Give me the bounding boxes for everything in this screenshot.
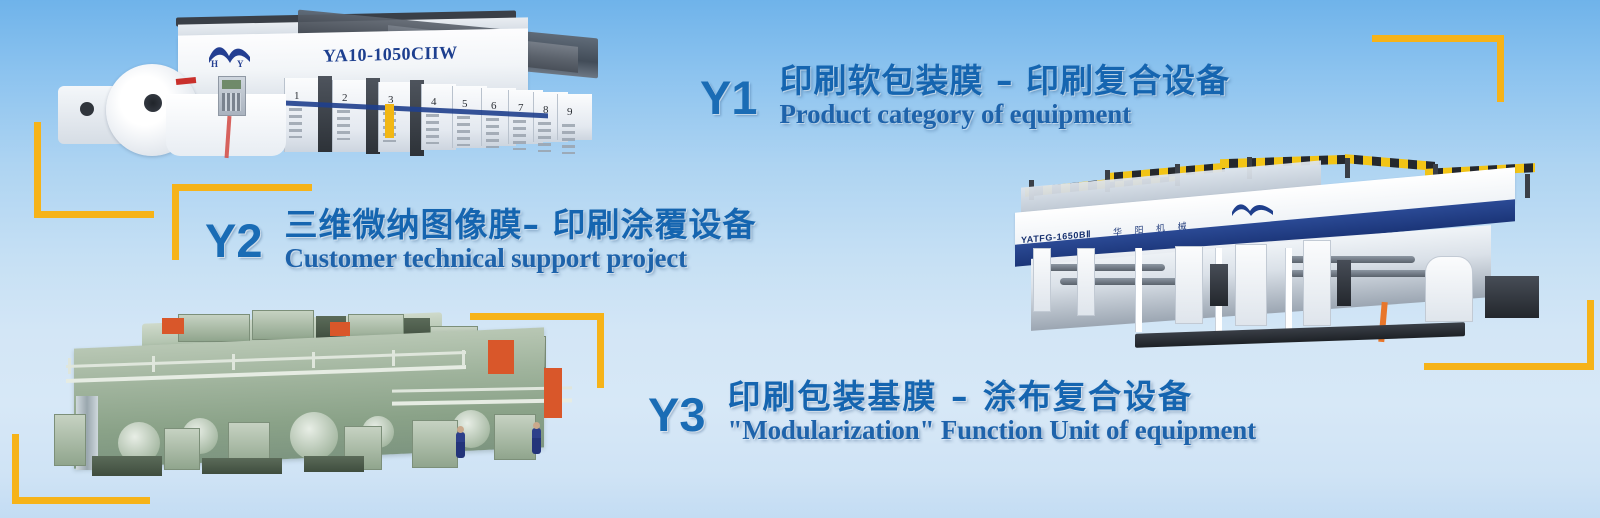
svg-text:H: H — [211, 59, 218, 68]
bracket-y3-vertical — [597, 313, 604, 388]
row-text-y2: 三维微纳图像膜– 印刷涂覆设备 Customer technical suppo… — [285, 208, 757, 272]
row-code-y2: Y2 — [205, 217, 263, 264]
row-title-cn-y2: 三维微纳图像膜– 印刷涂覆设备 — [285, 208, 757, 243]
row-text-y3: 印刷包装基膜 – 涂布复合设备 "Modularization" Functio… — [728, 380, 1256, 444]
category-row-y3: Y3 印刷包装基膜 – 涂布复合设备 "Modularization" Func… — [648, 380, 1256, 444]
category-row-y2: Y2 三维微纳图像膜– 印刷涂覆设备 Customer technical su… — [205, 208, 757, 272]
bracket-left-top-vertical — [34, 122, 41, 218]
row-title-en-y2: Customer technical support project — [285, 244, 757, 272]
row-title-cn-y3: 印刷包装基膜 – 涂布复合设备 — [728, 380, 1256, 415]
row-code-y1: Y1 — [700, 74, 758, 121]
row-title-cn-y1: 印刷软包装膜 – 印刷复合设备 — [780, 64, 1230, 99]
bracket-left-top-horizontal — [34, 211, 154, 218]
machine1-brand-logo: H Y — [206, 42, 258, 68]
bracket-top-right-vertical — [1497, 35, 1504, 102]
bracket-bottom-left-horizontal — [12, 497, 150, 504]
bracket-y2-vertical — [172, 184, 179, 260]
bracket-right-bottom-horizontal — [1424, 363, 1594, 370]
row-title-en-y1: Product category of equipment — [780, 100, 1230, 128]
bracket-right-bottom-vertical — [1587, 300, 1594, 370]
row-title-en-y3: "Modularization" Function Unit of equipm… — [728, 416, 1256, 444]
promo-banner: H Y YA10-1050CIIW 1 2 3 4 5 6 7 8 9 — [0, 0, 1600, 518]
machine-photo-gravure-press: H Y YA10-1050CIIW 1 2 3 4 5 6 7 8 9 — [58, 8, 606, 176]
machine2-brand-logo — [1230, 200, 1276, 218]
machine-photo-coating-line — [32, 310, 577, 488]
operator-figure — [456, 432, 465, 458]
operator-figure — [532, 428, 541, 454]
row-text-y1: 印刷软包装膜 – 印刷复合设备 Product category of equi… — [780, 64, 1230, 128]
bracket-top-right-horizontal — [1372, 35, 1504, 42]
row-code-y3: Y3 — [648, 391, 706, 438]
machine1-model-label: YA10-1050CIIW — [323, 42, 458, 67]
bracket-y2-horizontal — [172, 184, 312, 191]
bracket-bottom-left-vertical — [12, 434, 19, 504]
category-row-y1: Y1 印刷软包装膜 – 印刷复合设备 Product category of e… — [700, 64, 1230, 128]
svg-text:Y: Y — [237, 59, 244, 68]
machine1-control-panel — [218, 76, 246, 116]
machine-photo-coating-laminator: 华 阳 机 械 YATFG-1650BⅡ — [985, 152, 1545, 352]
